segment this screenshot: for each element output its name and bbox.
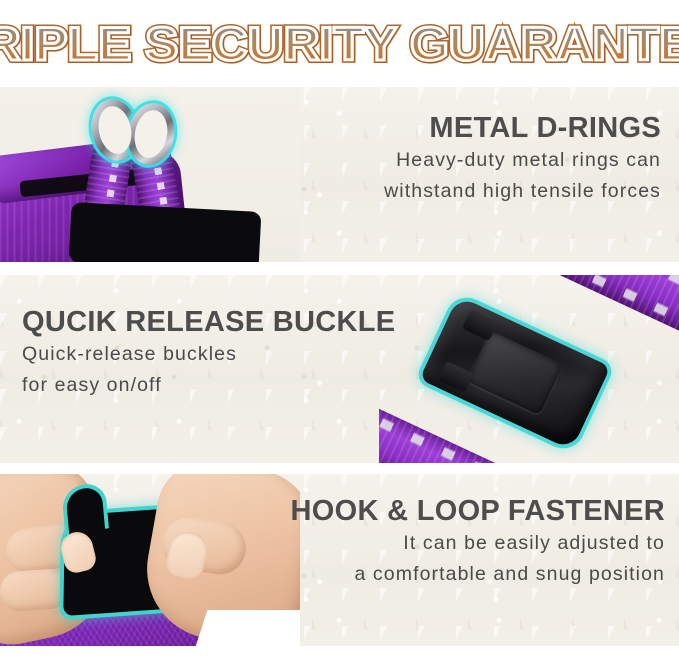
panel-divider-1: [0, 262, 679, 275]
photo-metal-d-rings: [0, 87, 300, 262]
buckle-prong-bottom: [438, 361, 474, 392]
feature-text-hook-and-loop-fastener: HOOK & LOOP FASTENER It can be easily ad…: [291, 496, 665, 591]
feature-desc-line-2: for easy on/off: [22, 370, 395, 402]
photo-hook-and-loop-fastener: [0, 474, 300, 656]
feature-text-quick-release-buckle: QUCIK RELEASE BUCKLE Quick-release buckl…: [22, 307, 395, 402]
harness-black-base: [69, 202, 262, 262]
feature-desc-line-1: Quick-release buckles: [22, 339, 395, 371]
title-wrap: TRIPLE SECURITY GUARANTEE TRIPLE SECURIT…: [0, 20, 679, 67]
feature-title: QUCIK RELEASE BUCKLE: [22, 307, 395, 339]
buckle-face-plate: [467, 331, 563, 415]
feature-desc-line-1: It can be easily adjusted to: [291, 528, 665, 560]
feature-desc-line-1: Heavy-duty metal rings can: [384, 145, 661, 177]
feature-text-metal-d-rings: METAL D-RINGS Heavy-duty metal rings can…: [384, 113, 661, 208]
page-title: TRIPLE SECURITY GUARANTEE: [0, 20, 679, 67]
feature-panel-quick-release-buckle: QUCIK RELEASE BUCKLE Quick-release buckl…: [0, 275, 679, 463]
feature-panel-metal-d-rings: METAL D-RINGS Heavy-duty metal rings can…: [0, 87, 679, 262]
bottom-white-strip: [0, 646, 679, 656]
feature-desc-line-2: withstand high tensile forces: [384, 176, 661, 208]
photo-quick-release-buckle: [379, 275, 679, 463]
title-banner: TRIPLE SECURITY GUARANTEE TRIPLE SECURIT…: [0, 0, 679, 87]
feature-desc-line-2: a comfortable and snug position: [291, 559, 665, 591]
feature-panel-hook-and-loop-fastener: HOOK & LOOP FASTENER It can be easily ad…: [0, 474, 679, 656]
feature-title: HOOK & LOOP FASTENER: [291, 496, 665, 528]
panel-divider-2: [0, 463, 679, 474]
side-release-buckle-icon: [419, 296, 610, 450]
feature-title: METAL D-RINGS: [384, 113, 661, 145]
